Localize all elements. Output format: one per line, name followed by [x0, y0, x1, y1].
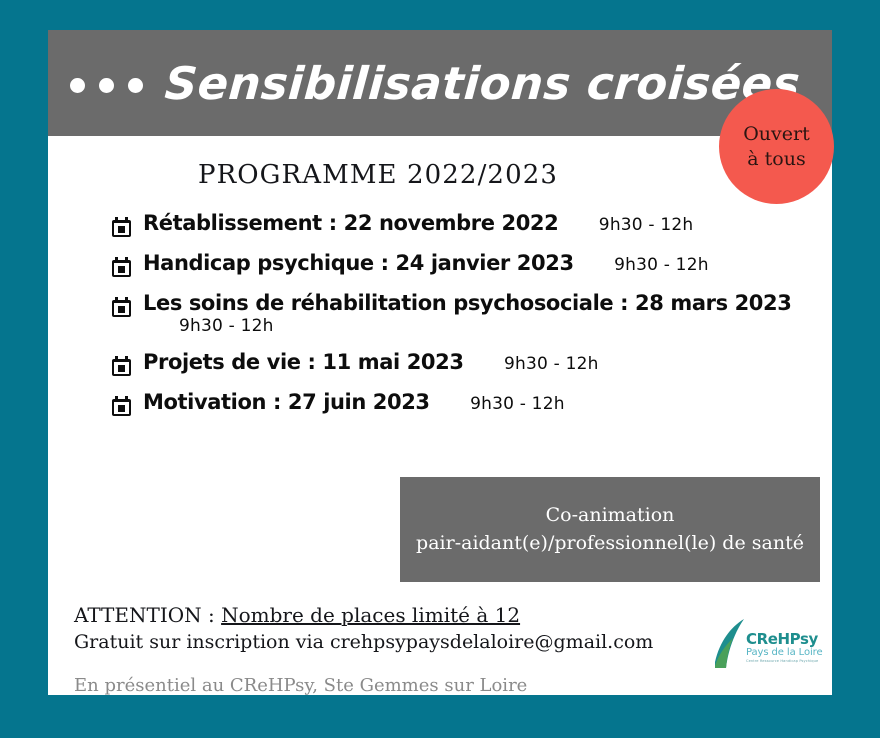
poster-card: Sensibilisations croisées Ouvert à tous …	[48, 30, 832, 695]
footer-notes: ATTENTION : Nombre de places limité à 12…	[74, 602, 694, 696]
session-title: Handicap psychique : 24 janvier 2023	[143, 251, 574, 275]
logo-region: Pays de la Loire	[746, 647, 816, 659]
attention-label: ATTENTION :	[74, 603, 221, 627]
session-title: Rétablissement : 22 novembre 2022	[143, 211, 558, 235]
crehpsy-swoosh-icon	[713, 618, 747, 670]
coanimation-box: Co-animation pair-aidant(e)/professionne…	[400, 477, 820, 582]
session-time: 9h30 - 12h	[179, 316, 274, 336]
bullet-dot-icon	[128, 78, 143, 93]
calendar-icon	[112, 257, 131, 277]
sessions-list: Rétablissement : 22 novembre 2022 9h30 -…	[112, 210, 812, 429]
session-item: Motivation : 27 juin 2023 9h30 - 12h	[112, 389, 812, 416]
session-time: 9h30 - 12h	[599, 215, 694, 235]
attention-emphasis: Nombre de places limité à 12	[221, 603, 520, 627]
session-item: Handicap psychique : 24 janvier 2023 9h3…	[112, 250, 812, 277]
venue-line: En présentiel au CReHPsy, Ste Gemmes sur…	[74, 675, 694, 696]
programme-heading: PROGRAMME 2022/2023	[48, 160, 708, 190]
session-item: Projets de vie : 11 mai 2023 9h30 - 12h	[112, 349, 812, 376]
bullet-dots-group	[70, 78, 143, 93]
session-title: Projets de vie : 11 mai 2023	[143, 350, 464, 374]
open-badge-line-1: Ouvert	[743, 122, 810, 146]
attention-line: ATTENTION : Nombre de places limité à 12	[74, 602, 694, 629]
logo-tagline: Centre Ressource Handicap Psychique	[746, 659, 816, 663]
calendar-icon	[112, 356, 131, 376]
calendar-icon	[112, 396, 131, 416]
session-item: Les soins de réhabilitation psychosocial…	[112, 290, 812, 336]
session-time: 9h30 - 12h	[504, 354, 599, 374]
registration-line: Gratuit sur inscription via crehpsypaysd…	[74, 629, 694, 656]
coanimation-line-1: Co-animation	[546, 502, 675, 530]
bullet-dot-icon	[99, 78, 114, 93]
open-badge-line-2: à tous	[747, 147, 805, 171]
session-item: Rétablissement : 22 novembre 2022 9h30 -…	[112, 210, 812, 237]
open-to-all-badge: Ouvert à tous	[719, 89, 834, 204]
calendar-icon	[112, 297, 131, 317]
session-title: Les soins de réhabilitation psychosocial…	[143, 291, 791, 315]
session-time: 9h30 - 12h	[614, 255, 709, 275]
session-title: Motivation : 27 juin 2023	[143, 390, 430, 414]
bullet-dot-icon	[70, 78, 85, 93]
poster-title: Sensibilisations croisées	[163, 57, 802, 110]
session-time: 9h30 - 12h	[470, 394, 565, 414]
logo-name: CReHPsy	[746, 632, 816, 647]
crehpsy-logo: CReHPsy Pays de la Loire Centre Ressourc…	[713, 616, 813, 676]
coanimation-line-2: pair-aidant(e)/professionnel(le) de sant…	[416, 530, 804, 558]
calendar-icon	[112, 217, 131, 237]
poster-header-band: Sensibilisations croisées	[48, 30, 832, 136]
